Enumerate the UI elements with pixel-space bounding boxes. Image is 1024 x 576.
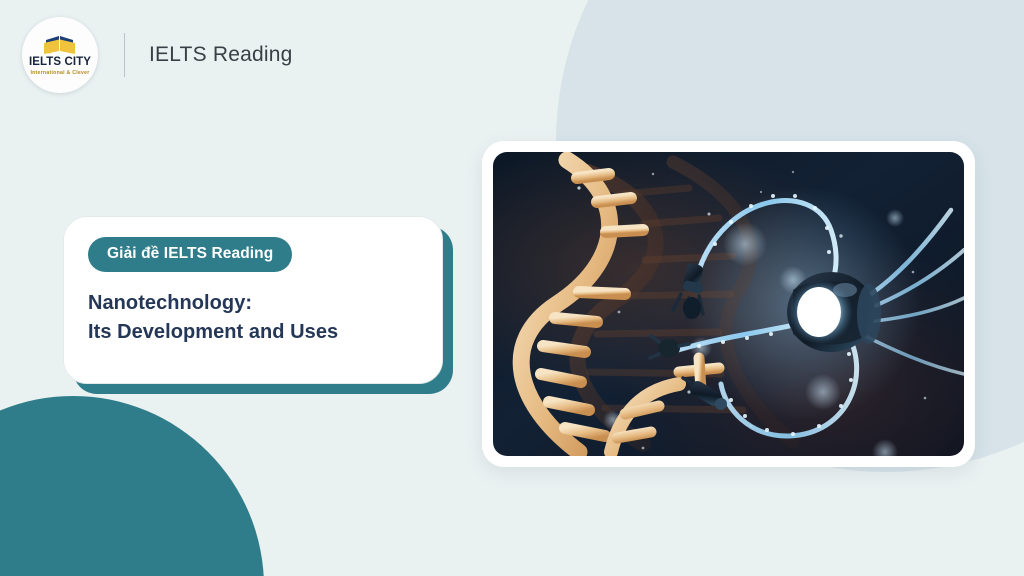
status-badge[interactable]: Giải đề IELTS Reading [88,237,292,272]
nanobot-upper [673,262,704,319]
open-book-icon [40,34,80,56]
lesson-title-line-2: Its Development and Uses [88,318,418,347]
nanodevice [787,272,881,352]
slide-canvas: IELTS CITY International & Clever IELTS … [0,0,1024,576]
brand-logo[interactable]: IELTS CITY International & Clever [22,17,98,93]
title-card: Giải đề IELTS Reading Nanotechnology: It… [63,216,443,384]
lesson-title: Nanotechnology: Its Development and Uses [88,289,418,347]
logo-wordmark: IELTS CITY [29,57,91,69]
lesson-title-line-1: Nanotechnology: [88,289,418,318]
decorative-circle-bottom-left [0,396,264,576]
logo-tagline: International & Clever [30,70,89,76]
hero-image-frame[interactable] [482,141,975,467]
header-divider [124,33,125,77]
page-title: IELTS Reading [149,43,292,67]
page-header: IELTS CITY International & Clever IELTS … [0,0,1024,110]
hero-image [493,152,964,456]
nanotech-illustration [493,152,964,456]
title-card-wrapper: Giải đề IELTS Reading Nanotechnology: It… [63,216,443,384]
